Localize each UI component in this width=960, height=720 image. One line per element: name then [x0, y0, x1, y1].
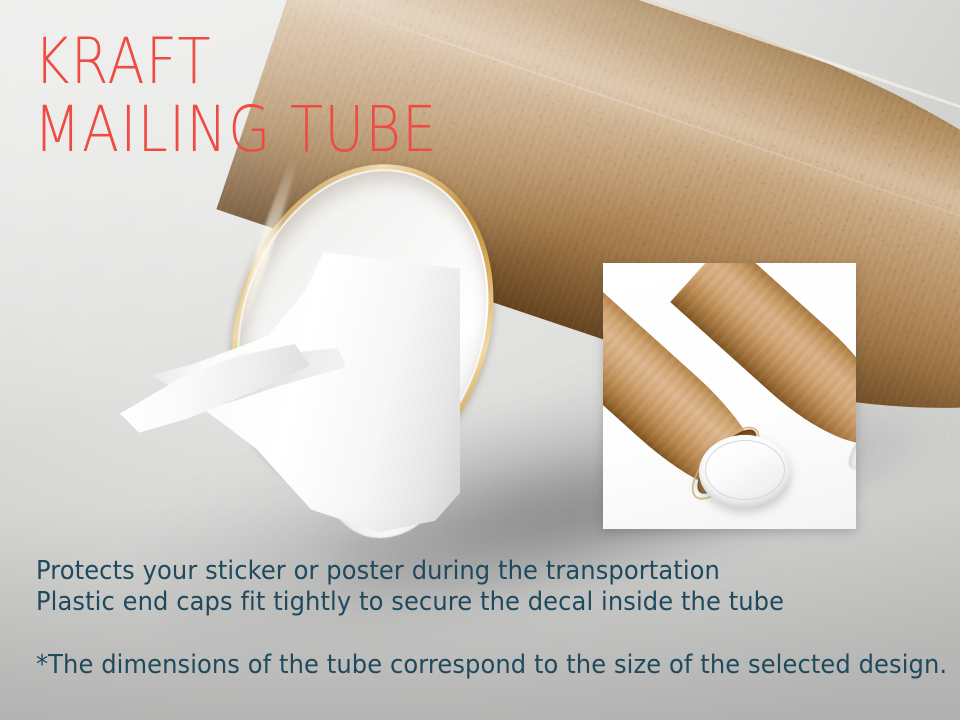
inset-loose-cap-rim: [705, 440, 785, 500]
title-line-2: MAILING TUBE: [34, 96, 438, 164]
poster-sheet-curl: [120, 252, 480, 542]
poster-canvas: KRAFT MAILING TUBE Protects your sticker…: [0, 0, 960, 720]
feature-line-1: Protects your sticker or poster during t…: [36, 556, 784, 587]
feature-line-2: Plastic end caps fit tightly to secure t…: [36, 587, 784, 618]
inset-product-photo: [603, 263, 856, 529]
footnote-text: *The dimensions of the tube correspond t…: [36, 650, 947, 680]
page-title: KRAFT MAILING TUBE: [34, 28, 438, 164]
title-line-1: KRAFT: [34, 28, 438, 96]
feature-list: Protects your sticker or poster during t…: [36, 556, 784, 617]
inset-loose-white-end-cap: [699, 435, 791, 509]
